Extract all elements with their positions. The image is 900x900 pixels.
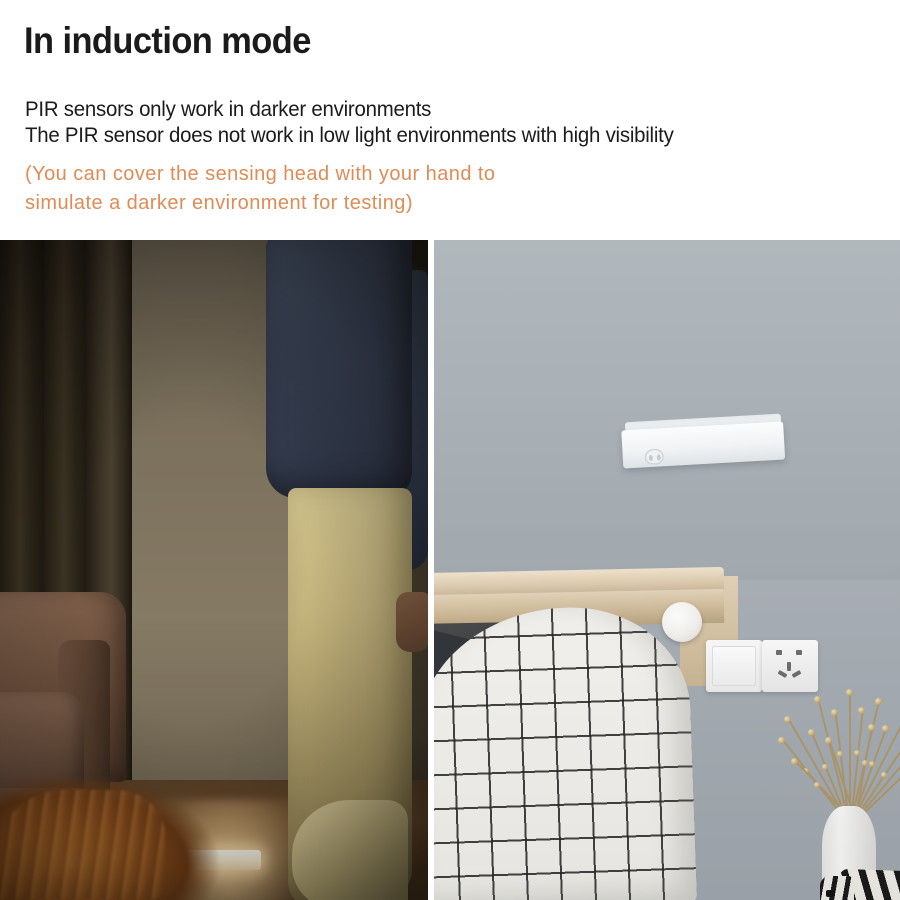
flower-bud (854, 750, 860, 756)
photo-bright-room: In low light environments, visibility is… (434, 240, 900, 900)
pir-lamp-off (621, 414, 785, 469)
trouser-hem-fold (292, 800, 408, 900)
switch-rocker (712, 646, 756, 686)
grid-pattern-pillow (434, 603, 697, 900)
flower-bud (868, 724, 875, 731)
zebra-decor-head (820, 876, 854, 900)
flower-bud (882, 725, 889, 732)
outlet-slot (787, 662, 791, 671)
flower-bud (846, 689, 853, 696)
subtitle-block: PIR sensors only work in darker environm… (25, 96, 885, 148)
flower-bud (869, 761, 875, 767)
flower-bud (814, 782, 820, 788)
note-line-2: simulate a darker environment for testin… (25, 189, 885, 218)
photo-dark-room: PIR sensors only sense in darker environ… (0, 240, 428, 900)
flower-bud (862, 760, 868, 766)
person-hand (396, 592, 428, 652)
note-block: (You can cover the sensing head with you… (25, 160, 885, 218)
flower-bud (822, 764, 828, 770)
outlet-slot (792, 670, 802, 678)
flower-bud (825, 737, 832, 744)
flower-bud (881, 772, 887, 778)
outlet-slot (796, 650, 802, 655)
photo-comparison-band: PIR sensors only sense in darker environ… (0, 240, 900, 900)
flower-bud (831, 709, 838, 716)
rug-fur-texture (0, 790, 165, 900)
dried-flowers (786, 692, 900, 822)
pir-sensor-icon (644, 448, 664, 465)
dark-room-scene (0, 240, 428, 900)
page-title: In induction mode (24, 20, 311, 62)
note-line-1: (You can cover the sensing head with you… (25, 160, 885, 189)
flower-bud (858, 707, 865, 714)
header-section: In induction mode PIR sensors only work … (0, 0, 900, 240)
light-switch (706, 640, 762, 692)
person-navy-top (266, 240, 412, 498)
pillow-pom-pom (662, 602, 702, 642)
bright-room-scene (434, 240, 900, 900)
subtitle-line-2: The PIR sensor does not work in low ligh… (25, 122, 842, 148)
power-outlet (762, 640, 818, 692)
zebra-decor-eye (826, 890, 835, 897)
outlet-slot (778, 670, 788, 678)
flower-bud (814, 696, 821, 703)
flower-bud (837, 751, 843, 757)
product-info-graphic: In induction mode PIR sensors only work … (0, 0, 900, 900)
flower-bud (875, 698, 882, 705)
subtitle-line-1: PIR sensors only work in darker environm… (25, 96, 842, 122)
bright-room-wall (434, 240, 900, 580)
outlet-slot (776, 650, 782, 655)
